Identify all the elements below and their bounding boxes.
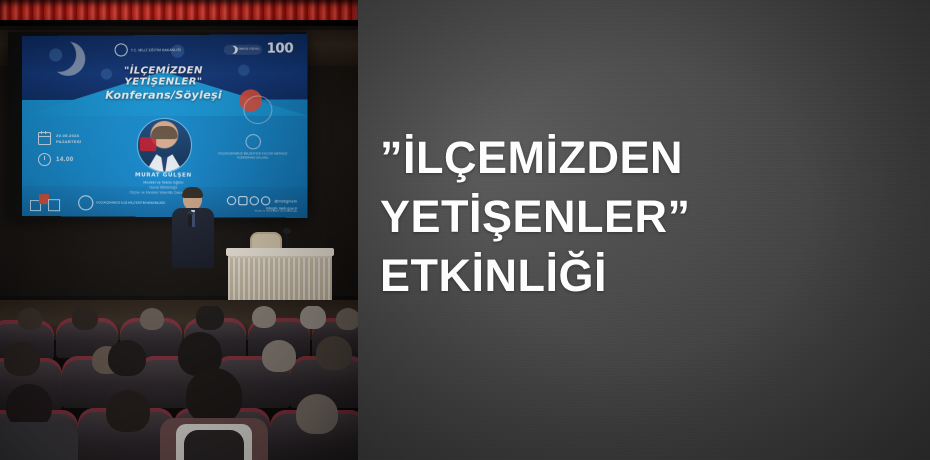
headline-line-1: ”İLÇEMİZDEN (380, 128, 910, 187)
event-time-row: 14.00 (38, 153, 81, 166)
audience-head (336, 308, 358, 330)
table-skirt-pleats (228, 258, 332, 300)
youtube-icon (261, 196, 270, 205)
presenter-hair (182, 187, 203, 198)
projection-screen-frame: T.C. MİLLÎ EĞİTİM BAKANLIĞI TÜRKİYE YÜZY… (8, 32, 306, 220)
audience-head (140, 308, 164, 330)
anniversary-badge: TÜRKİYE YÜZYILI (223, 44, 262, 54)
municipality-logo: KÜÇÜKÇEKMECE İLÇE MİLLÎ EĞİTİM MÜDÜRLÜĞÜ (78, 195, 165, 211)
social-block: @msbgmem mtegm.meb.gov.tr Mesleki ve Tek… (227, 196, 297, 213)
anniversary-badge-label: TÜRKİYE YÜZYILI (237, 48, 259, 51)
event-time: 14.00 (56, 157, 74, 163)
audience-head (316, 336, 352, 370)
flag-decoration (140, 137, 156, 151)
headline-panel: ”İLÇEMİZDEN YETİŞENLER” ETKİNLİĞİ (358, 0, 930, 460)
event-day: PAZARTESİ (56, 139, 81, 145)
event-date-text: 20.05.2024 PAZARTESİ (56, 133, 81, 144)
page-title: ”İLÇEMİZDEN YETİŞENLER” ETKİNLİĞİ (380, 128, 910, 305)
audience-shoulders (0, 422, 78, 460)
standing-presenter (170, 188, 216, 268)
venue-line2: KONFERANS SALONU (213, 156, 294, 160)
speaker-portrait (137, 118, 192, 173)
social-icon-row: @msbgmem (227, 196, 297, 206)
projection-screen: T.C. MİLLÎ EĞİTİM BAKANLIĞI TÜRKİYE YÜZY… (22, 34, 308, 218)
stage-curtain (0, 0, 358, 22)
audience-head (296, 394, 338, 434)
slide-title-block: "İLÇEMİZDEN YETİŞENLER" Konferans/Söyleş… (22, 65, 308, 103)
audience-shoulders (184, 430, 244, 460)
clock-icon (38, 153, 51, 166)
social-subtitle: Mesleki ve Teknik Eğitim Genel Müdürlüğü (227, 210, 297, 212)
municipality-logo-label: KÜÇÜKÇEKMECE İLÇE MİLLÎ EĞİTİM MÜDÜRLÜĞÜ (96, 201, 165, 205)
calendar-icon (38, 132, 51, 145)
headline-line-2: YETİŞENLER” (380, 187, 910, 246)
audience-head (252, 306, 276, 328)
draped-head-table (228, 248, 332, 300)
table-top (226, 248, 334, 256)
slide-event-meta: 20.05.2024 PAZARTESİ 14.00 (38, 132, 81, 174)
crescent-star-icon (227, 45, 235, 53)
slide-footer: KÜÇÜKÇEKMECE İLÇE MİLLÎ EĞİTİM MÜDÜRLÜĞÜ… (22, 186, 308, 218)
headline-line-3: ETKİNLİĞİ (380, 246, 910, 305)
event-date: 20.05.2024 (56, 133, 81, 139)
event-date-row: 20.05.2024 PAZARTESİ (38, 132, 81, 145)
facebook-icon (227, 196, 236, 205)
ministry-logo: T.C. MİLLÎ EĞİTİM BAKANLIĞI (115, 43, 182, 56)
audience-head (108, 340, 146, 376)
audience-head (186, 368, 242, 424)
instagram-icon (250, 196, 259, 205)
audience-head (18, 308, 42, 330)
news-photo: T.C. MİLLÎ EĞİTİM BAKANLIĞI TÜRKİYE YÜZY… (0, 0, 358, 460)
audience-head (4, 342, 40, 376)
anniversary-number: 100 (267, 41, 294, 56)
ministry-emblem-icon (115, 43, 128, 56)
microphone-icon (188, 214, 192, 227)
social-handle: @msbgmem (274, 199, 297, 203)
slide-title-line2: YETİŞENLER" (22, 76, 308, 88)
audience-head (300, 306, 326, 329)
square-3 (48, 199, 60, 211)
audience-head (262, 340, 296, 372)
municipality-emblem-icon (78, 195, 93, 210)
audience-head (72, 306, 98, 330)
audience-head (196, 306, 224, 330)
square-decoration (30, 194, 64, 210)
venue-seal-icon (245, 134, 261, 149)
anniversary-logo: TÜRKİYE YÜZYILI 100 (223, 41, 293, 57)
audience-area (0, 306, 358, 460)
portrait-hair (151, 126, 178, 139)
screenshot-root: T.C. MİLLÎ EĞİTİM BAKANLIĞI TÜRKİYE YÜZY… (0, 0, 930, 460)
audience-head (106, 390, 150, 432)
slide-title-line3: Konferans/Söyleşi (22, 89, 308, 103)
ministry-logo-label: T.C. MİLLÎ EĞİTİM BAKANLIĞI (131, 48, 181, 52)
x-twitter-icon (238, 196, 247, 205)
venue-block: KÜÇÜKÇEKMECE BELEDİYESİ KÜLTÜR MERKEZİ K… (213, 134, 294, 161)
